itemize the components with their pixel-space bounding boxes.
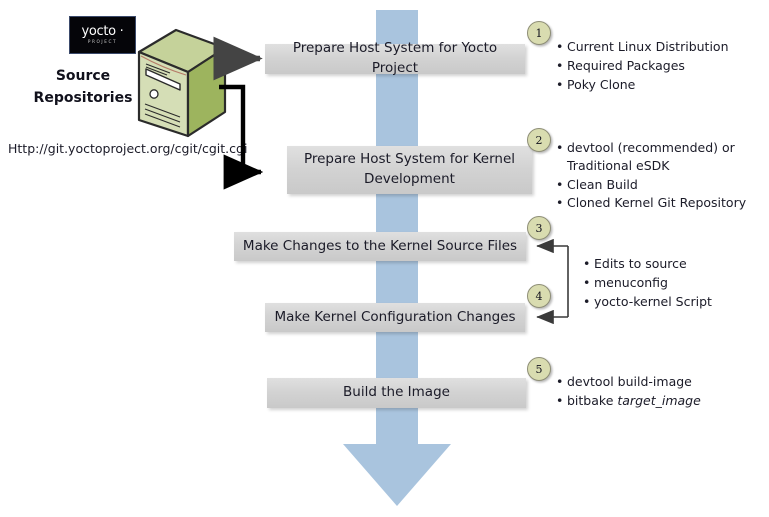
yocto-logo-subtext: PROJECT: [88, 40, 117, 44]
step-box-prepare-host-kernel[interactable]: Prepare Host System for Kernel Developme…: [287, 146, 532, 194]
step-box-prepare-host-yocto[interactable]: Prepare Host System for Yocto Project: [265, 44, 525, 74]
note-item: Edits to source: [594, 255, 761, 273]
step-badge-4: 4: [527, 284, 551, 308]
source-repositories-label: Source Repositories: [28, 66, 138, 109]
step-badge-number: 2: [536, 134, 543, 147]
note-item: yocto-kernel Script: [594, 293, 761, 311]
note-item: Poky Clone: [567, 76, 764, 94]
step-box-label: Prepare Host System for Kernel Developme…: [295, 150, 524, 189]
note-item: Clean Build: [567, 176, 766, 194]
step-badge-3: 3: [527, 216, 551, 240]
main-flow-arrow-head: [343, 444, 451, 506]
server-tower-icon: [136, 28, 228, 140]
step-box-build-image[interactable]: Build the Image: [267, 378, 526, 408]
step-badge-1: 1: [527, 21, 551, 45]
step-notes-3-and-4: Edits to sourcemenuconfigyocto-kernel Sc…: [581, 255, 761, 311]
note-item: devtool (recommended) or Traditional eSD…: [567, 139, 766, 175]
step-notes-list: devtool build-imagebitbake target_image: [554, 373, 754, 410]
step-badge-number: 1: [536, 27, 543, 40]
step-box-label: Prepare Host System for Yocto Project: [273, 39, 517, 78]
step-box-make-config-changes[interactable]: Make Kernel Configuration Changes: [265, 303, 525, 332]
step-notes-2: devtool (recommended) or Traditional eSD…: [554, 139, 766, 213]
source-repositories-label-line1: Source: [28, 66, 138, 88]
step-notes-list: Current Linux DistributionRequired Packa…: [554, 38, 764, 93]
note-item: devtool build-image: [567, 373, 754, 391]
step-notes-list: Edits to sourcemenuconfigyocto-kernel Sc…: [581, 255, 761, 310]
step-box-make-source-changes[interactable]: Make Changes to the Kernel Source Files: [234, 232, 526, 261]
note-item: bitbake target_image: [567, 392, 754, 410]
note-item: Current Linux Distribution: [567, 38, 764, 56]
step-badge-number: 5: [536, 363, 543, 376]
step-notes-5: devtool build-imagebitbake target_image: [554, 373, 754, 411]
source-repositories-url: Http://git.yoctoproject.org/cgit/cgit.cg…: [8, 141, 247, 156]
step-badge-number: 3: [536, 222, 543, 235]
step-box-label: Make Changes to the Kernel Source Files: [243, 237, 517, 257]
step-badge-5: 5: [527, 357, 551, 381]
source-repositories-label-line2: Repositories: [28, 88, 138, 110]
note-item: Cloned Kernel Git Repository: [567, 194, 766, 212]
diagram-canvas: yocto · PROJECT Source Repositories Http…: [0, 0, 769, 517]
step-notes-1: Current Linux DistributionRequired Packa…: [554, 38, 764, 94]
yocto-logo-wordmark: yocto ·: [81, 25, 123, 38]
step-notes-list: devtool (recommended) or Traditional eSD…: [554, 139, 766, 212]
note-item-emphasis: target_image: [617, 393, 700, 408]
note-item: Required Packages: [567, 57, 764, 75]
yocto-project-logo: yocto · PROJECT: [69, 16, 136, 54]
step-badge-number: 4: [536, 290, 543, 303]
step-box-label: Make Kernel Configuration Changes: [274, 308, 515, 328]
note-item: menuconfig: [594, 274, 761, 292]
step-badge-2: 2: [527, 128, 551, 152]
step-box-label: Build the Image: [343, 383, 450, 403]
